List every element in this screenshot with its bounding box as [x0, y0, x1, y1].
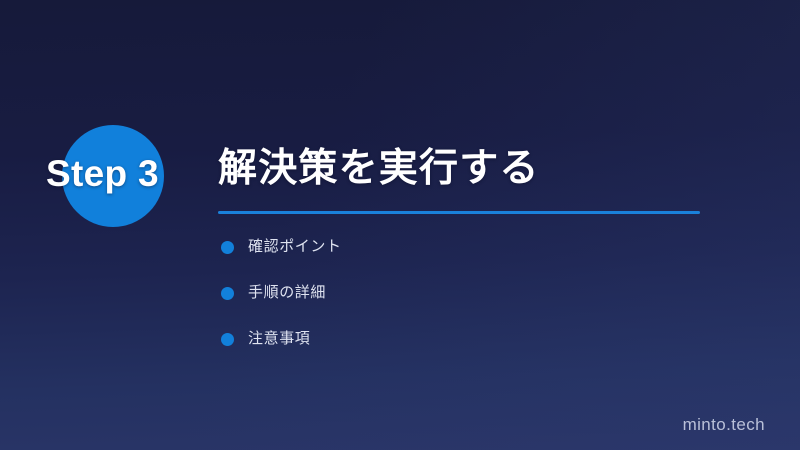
footer-brand: minto.tech	[683, 415, 765, 435]
title-divider	[218, 211, 700, 214]
list-item-label: 確認ポイント	[248, 237, 342, 257]
presentation-slide: Step 3 解決策を実行する 確認ポイント 手順の詳細 注意事項 minto.…	[0, 0, 800, 450]
step-badge-label: Step 3	[46, 150, 206, 198]
list-item-label: 注意事項	[248, 329, 310, 349]
slide-title: 解決策を実行する	[218, 144, 540, 194]
list-item-label: 手順の詳細	[248, 283, 326, 303]
bullet-dot-icon	[221, 241, 234, 254]
bullet-dot-icon	[221, 333, 234, 346]
bullet-dot-icon	[221, 287, 234, 300]
